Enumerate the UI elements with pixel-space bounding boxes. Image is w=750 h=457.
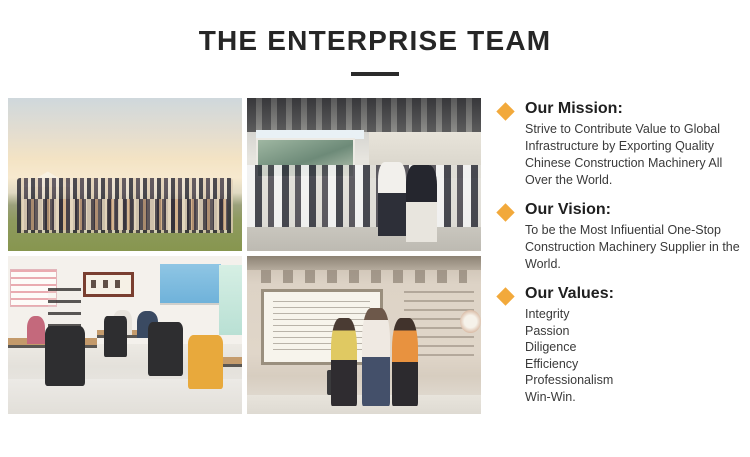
person-center [362,308,390,406]
office-window [219,265,242,335]
values-list-item: Efficiency [525,356,747,373]
office-chair-center [104,316,127,357]
statement-vision: Our Vision: To be the Most Infiuential O… [497,199,747,273]
enterprise-team-page: THE ENTERPRISE TEAM [0,0,750,457]
page-title: THE ENTERPRISE TEAM [0,24,750,58]
photo-team-outdoor-group [8,98,242,251]
photo-award-ceremony [247,256,481,414]
wall-seal-emblem [460,310,481,334]
visitor-figure-front-left [378,162,406,235]
photo-open-plan-office [8,256,242,414]
visitor-figure-front-right [406,165,436,242]
values-list-item: Integrity [525,306,747,323]
values-list-item: Win-Win. [525,389,747,406]
storage-shelf [48,288,81,329]
photo-exhibition-hall [247,98,481,251]
vision-body: To be the Most Infiuential One-Stop Cons… [525,222,747,273]
title-underline-rule [351,72,399,76]
office-chair-left [45,326,85,386]
values-list-item: Professionalism [525,372,747,389]
vision-heading: Our Vision: [525,199,747,220]
office-chair-right [148,322,183,376]
values-list: Integrity Passion Diligence Efficiency P… [525,306,747,405]
values-list-item: Passion [525,323,747,340]
employee-left [27,316,46,344]
mission-heading: Our Mission: [525,98,747,119]
mission-body: Strive to Contribute Value to Global Inf… [525,121,747,189]
crowd-front-row [22,199,228,230]
framed-calligraphy [83,272,134,297]
statements-column: Our Mission: Strive to Contribute Value … [497,98,747,405]
hall-floor [247,223,481,251]
person-left [331,318,357,406]
diamond-bullet-icon [496,287,514,305]
statement-mission: Our Mission: Strive to Contribute Value … [497,98,747,189]
person-right [392,318,418,406]
values-heading: Our Values: [525,283,747,304]
photo-grid [8,98,481,421]
visitor-crowd [247,165,481,226]
values-list-item: Diligence [525,339,747,356]
diamond-bullet-icon [496,203,514,221]
projector-screen [160,264,221,305]
upper-wall-strip [247,256,481,270]
hall-ceiling [247,98,481,132]
diamond-bullet-icon [496,102,514,120]
wall-signage-row [261,270,467,283]
title-block: THE ENTERPRISE TEAM [0,24,750,76]
statement-values: Our Values: Integrity Passion Diligence … [497,283,747,405]
office-chair-yellow [188,335,223,389]
